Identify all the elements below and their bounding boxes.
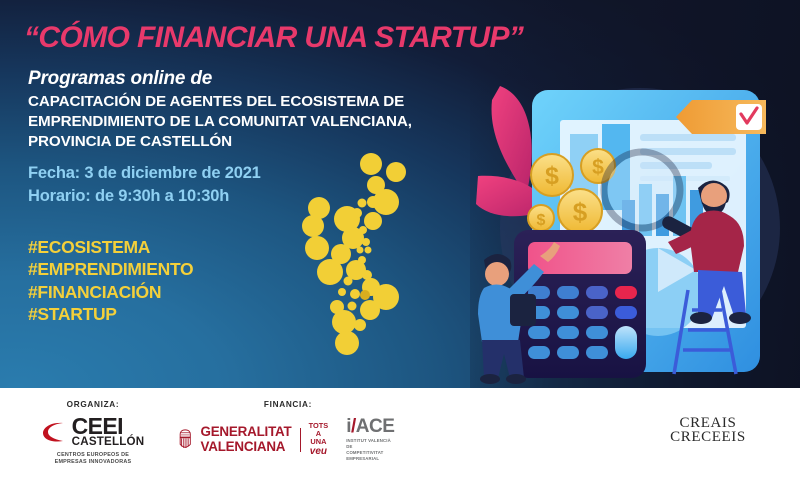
person-shoe-right bbox=[506, 374, 526, 384]
generalitat-line-1: GENERALITAT bbox=[200, 425, 291, 439]
logo-divider bbox=[300, 428, 301, 452]
ceei-logo: CEEI CASTELLÓN bbox=[30, 417, 156, 447]
subtitle-line-3: PROVINCIA DE CASTELLÓN bbox=[28, 132, 498, 152]
hashtag-ecosistema: #ECOSISTEMA bbox=[28, 236, 193, 258]
hashtag-emprendimiento: #EMPRENDIMIENTO bbox=[28, 258, 193, 280]
generalitat-shield-icon bbox=[178, 425, 192, 455]
ceei-tagline-line-1: CENTROS EUROPEOS DE bbox=[30, 452, 156, 459]
ceei-tagline-line-2: EMPRESAS INNOVADORAS bbox=[30, 459, 156, 466]
calculator-key bbox=[557, 326, 579, 339]
person-folder bbox=[510, 294, 536, 326]
ceei-city: CASTELLÓN bbox=[72, 437, 145, 447]
calculator-key-blue bbox=[615, 306, 637, 319]
ivace-wordmark: i/ACE bbox=[346, 417, 398, 436]
ivace-tagline-line-1: INSTITUT VALENCIÀ DE bbox=[346, 438, 398, 450]
calculator-key bbox=[586, 326, 608, 339]
person-shoe-left bbox=[480, 374, 500, 384]
coin-dollar-symbol: $ bbox=[573, 197, 588, 227]
funder-logo-row: GENERALITAT VALENCIANA TOTS A UNA veu i/… bbox=[178, 417, 398, 462]
coin-dollar-symbol: $ bbox=[592, 156, 604, 179]
ivace-tagline: INSTITUT VALENCIÀ DE COMPETITIVITAT EMPR… bbox=[346, 438, 398, 462]
calculator-key bbox=[528, 326, 550, 339]
calculator-key-red bbox=[615, 286, 637, 299]
ceei-swoosh-icon bbox=[42, 420, 64, 444]
financial-analysis-illustration: $ $ $ $ bbox=[470, 78, 800, 388]
financia-label: FINANCIA: bbox=[178, 400, 398, 409]
coin-dollar-symbol: $ bbox=[545, 162, 559, 190]
generalitat-wordmark: GENERALITAT VALENCIANA bbox=[200, 425, 291, 453]
poster-footer: ORGANIZA: CEEI CASTELLÓN CENTROS EUROPEO… bbox=[0, 388, 800, 480]
claim-line-3: veu bbox=[309, 446, 329, 457]
creais-line-2: CRECEEIS bbox=[640, 430, 776, 444]
event-schedule: Fecha: 3 de diciembre de 2021 Horario: d… bbox=[28, 162, 261, 209]
calculator-key bbox=[586, 306, 608, 319]
castellon-dot-cluster-decoration bbox=[300, 150, 430, 360]
creais-line-1: CREAIS bbox=[640, 416, 776, 430]
ivace-tagline-line-2: COMPETITIVITAT EMPRESARIAL bbox=[346, 450, 398, 462]
generalitat-line-2: VALENCIANA bbox=[200, 440, 291, 454]
page-text-line-1 bbox=[640, 134, 736, 141]
calculator-key bbox=[557, 306, 579, 319]
ceei-wordmark: CEEI CASTELLÓN bbox=[72, 417, 145, 447]
poster-kicker: Programas online de bbox=[28, 68, 212, 90]
poster-subtitle: CAPACITACIÓN DE AGENTES DEL ECOSISTEMA D… bbox=[28, 92, 498, 153]
calculator-key bbox=[586, 286, 608, 299]
claim-line-2: A UNA bbox=[309, 430, 329, 447]
ivace-logo: i/ACE INSTITUT VALENCIÀ DE COMPETITIVITA… bbox=[346, 417, 398, 462]
person-head bbox=[485, 262, 509, 286]
hashtag-startup: #STARTUP bbox=[28, 303, 193, 325]
analyst-shoe-right bbox=[729, 312, 751, 324]
hashtag-list: #ECOSISTEMA #EMPRENDIMIENTO #FINANCIACIÓ… bbox=[28, 236, 193, 326]
tots-a-una-veu-claim: TOTS A UNA veu bbox=[309, 422, 329, 458]
subtitle-line-2: EMPRENDIMIENTO DE LA COMUNITAT VALENCIAN… bbox=[28, 112, 498, 132]
illustration-svg: $ $ $ $ bbox=[470, 78, 800, 388]
ceei-tagline: CENTROS EUROPEOS DE EMPRESAS INNOVADORAS bbox=[30, 452, 156, 467]
analyst-shoe-left bbox=[690, 312, 712, 324]
coin-dollar-symbol: $ bbox=[537, 212, 546, 229]
event-date: Fecha: 3 de diciembre de 2021 bbox=[28, 162, 261, 185]
hashtag-financiacion: #FINANCIACIÓN bbox=[28, 281, 193, 303]
ceei-name: CEEI bbox=[72, 417, 145, 437]
calculator-key-enter bbox=[615, 326, 637, 359]
financia-block: FINANCIA: GENERALITAT VALENCIANA TOTS A … bbox=[178, 400, 398, 462]
calculator-key bbox=[528, 346, 550, 359]
event-time: Horario: de 9:30h a 10:30h bbox=[28, 185, 261, 208]
creais-creceeis-logo: CREAIS CRECEEIS bbox=[640, 416, 776, 445]
ivace-name-rest: ACE bbox=[356, 416, 395, 437]
calculator-key bbox=[557, 346, 579, 359]
subtitle-line-1: CAPACITACIÓN DE AGENTES DEL ECOSISTEMA D… bbox=[28, 92, 498, 112]
organiza-block: ORGANIZA: CEEI CASTELLÓN CENTROS EUROPEO… bbox=[30, 400, 156, 466]
calculator-key bbox=[586, 346, 608, 359]
dot-cluster-svg bbox=[300, 150, 430, 360]
poster-canvas: $ $ $ $ bbox=[0, 0, 800, 480]
organiza-label: ORGANIZA: bbox=[30, 400, 156, 409]
person-trousers bbox=[482, 340, 524, 378]
calculator-key bbox=[557, 286, 579, 299]
poster-title: “CÓMO FINANCIAR UNA STARTUP” bbox=[24, 22, 564, 54]
